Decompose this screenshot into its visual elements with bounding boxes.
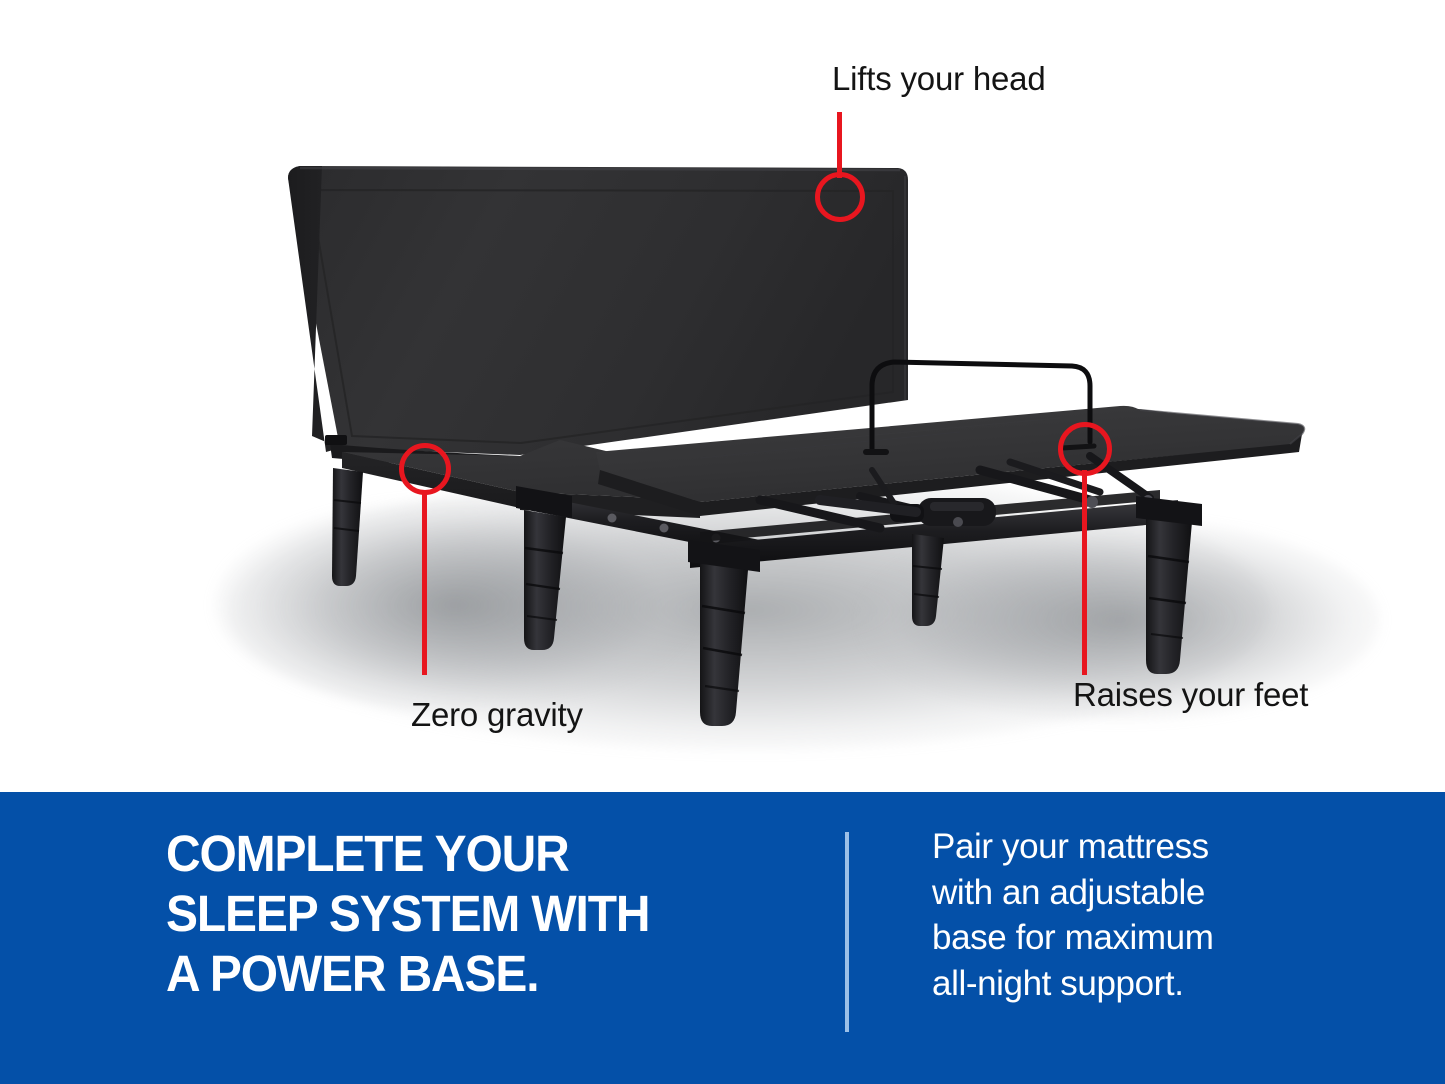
headboard-panel bbox=[288, 166, 908, 470]
banner-vertical-divider bbox=[845, 832, 849, 1032]
headline-line-1: COMPLETE YOUR bbox=[166, 824, 777, 884]
callout-label-raises-feet: Raises your feet bbox=[1073, 678, 1308, 711]
subcopy-line-3: base for maximum bbox=[932, 915, 1312, 961]
callout-line-raises-feet bbox=[1082, 470, 1087, 675]
callout-circle-zero-gravity bbox=[399, 443, 451, 495]
subcopy-line-1: Pair your mattress bbox=[932, 824, 1312, 870]
promo-banner: COMPLETE YOUR SLEEP SYSTEM WITH A POWER … bbox=[0, 792, 1445, 1084]
callout-circle-lifts-head bbox=[815, 172, 865, 222]
callout-line-zero-gravity bbox=[422, 490, 427, 675]
callout-label-lifts-head: Lifts your head bbox=[832, 62, 1045, 95]
callout-label-zero-gravity: Zero gravity bbox=[411, 698, 583, 731]
subcopy-line-4: all-night support. bbox=[932, 961, 1312, 1007]
product-hero-image: Lifts your head Zero gravity Raises your… bbox=[0, 0, 1445, 792]
headline-line-2: SLEEP SYSTEM WITH bbox=[166, 884, 777, 944]
subcopy-line-2: with an adjustable bbox=[932, 870, 1312, 916]
headline-line-3: A POWER BASE. bbox=[166, 944, 777, 1004]
banner-subcopy: Pair your mattress with an adjustable ba… bbox=[932, 824, 1312, 1006]
banner-headline: COMPLETE YOUR SLEEP SYSTEM WITH A POWER … bbox=[166, 824, 777, 1005]
adjustable-bed-base-illustration bbox=[0, 0, 1445, 792]
callout-line-lifts-head bbox=[837, 112, 842, 178]
callout-circle-raises-feet bbox=[1058, 422, 1112, 476]
promo-page: Lifts your head Zero gravity Raises your… bbox=[0, 0, 1445, 1084]
